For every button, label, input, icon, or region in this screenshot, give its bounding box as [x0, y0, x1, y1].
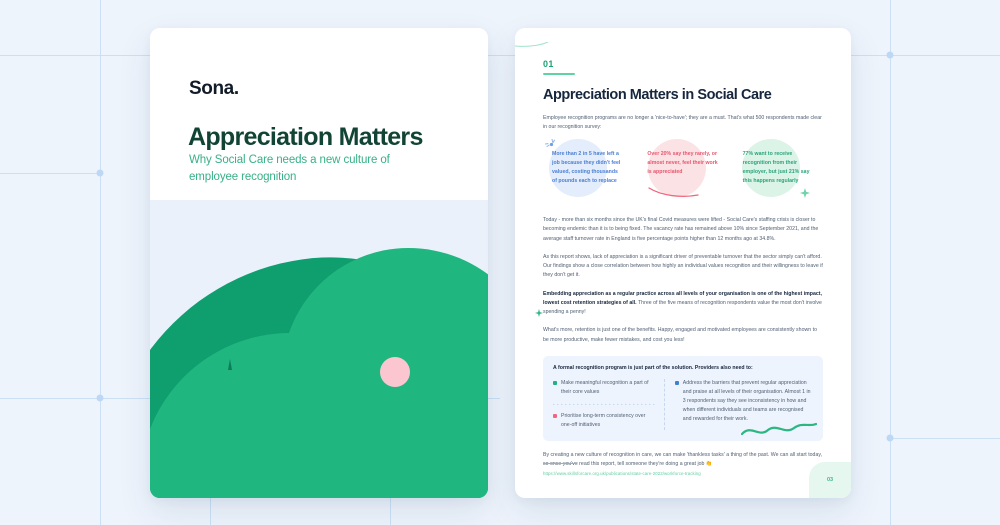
footer-source-link[interactable]: https://www.skillsforcare.org.uk/publica… [543, 471, 701, 476]
grid-line-vertical [100, 0, 101, 525]
footer-rule [543, 463, 577, 464]
body-paragraph: What's more, retention is just one of th… [543, 326, 823, 345]
sparkle-icon [800, 188, 810, 198]
sona-logo[interactable]: Sona. [189, 78, 239, 100]
grid-node-dot [885, 50, 895, 60]
cover-title: Appreciation Matters [188, 124, 423, 152]
lede-paragraph: Employee recognition programs are no lon… [543, 114, 823, 132]
cover-subtitle: Why Social Care needs a new culture of e… [189, 152, 419, 185]
bullet-icon [553, 381, 557, 385]
grid-line-horizontal [0, 173, 100, 174]
body-paragraph: As this report shows, lack of appreciati… [543, 253, 823, 281]
page-number: 03 [827, 477, 833, 483]
closing-paragraph: By creating a new culture of recognition… [543, 451, 823, 470]
stat-card: 77% want to receive recognition from the… [734, 141, 823, 207]
stat-text: Over 20% say they rarely, or almost neve… [647, 150, 718, 177]
bullet-icon [553, 414, 557, 418]
list-item: Make meaningful recognition a part of th… [553, 379, 656, 397]
report-content-page[interactable]: 01 Appreciation Matters in Social Care E… [515, 28, 851, 498]
plus-sparkle-icon [535, 309, 543, 317]
cover-header: Sona. Appreciation Matters Why Social Ca… [150, 28, 488, 200]
sparkle-icon [545, 139, 557, 150]
callout-left-column: Make meaningful recognition a part of th… [553, 379, 665, 430]
grid-line-horizontal [890, 438, 1000, 439]
body-paragraph: Today - more than six months since the U… [543, 216, 823, 244]
pink-circle-decoration [380, 357, 410, 387]
section-number-block: 01 [543, 54, 823, 75]
section-underline [543, 73, 575, 75]
page-number-badge: 03 [809, 462, 851, 498]
report-cover-page[interactable]: Sona. Appreciation Matters Why Social Ca… [150, 28, 488, 498]
statistics-row: More than 2 in 5 have left a job because… [543, 141, 823, 207]
section-number: 01 [543, 59, 554, 69]
grid-node-dot [95, 168, 105, 178]
stat-card: Over 20% say they rarely, or almost neve… [638, 141, 727, 207]
stat-text: 77% want to receive recognition from the… [743, 150, 814, 186]
cover-illustration [150, 200, 488, 498]
callout-title: A formal recognition program is just par… [553, 365, 813, 371]
list-item: Prioritise long-term consistency over on… [553, 412, 656, 430]
swoosh-icon [515, 42, 549, 47]
grid-node-dot [885, 433, 895, 443]
list-item: Address the barriers that prevent regula… [675, 379, 813, 424]
pink-underline-squiggle-icon [648, 187, 700, 199]
dotted-divider [553, 404, 656, 405]
green-wave-icon [741, 422, 817, 438]
screenshot-canvas: Sona. Appreciation Matters Why Social Ca… [0, 0, 1000, 525]
stat-text: More than 2 in 5 have left a job because… [552, 150, 623, 186]
tree-icon [228, 359, 232, 370]
list-item-label: Prioritise long-term consistency over on… [561, 412, 656, 430]
highlight-paragraph: Embedding appreciation as a regular prac… [543, 290, 823, 318]
callout-box: A formal recognition program is just par… [543, 356, 823, 441]
list-item-label: Make meaningful recognition a part of th… [561, 379, 656, 397]
clap-emoji-icon: 👏 [706, 461, 712, 467]
closing-text: By creating a new culture of recognition… [543, 452, 822, 467]
grid-node-dot [95, 393, 105, 403]
list-item-label: Address the barriers that prevent regula… [683, 379, 813, 424]
grid-line-vertical [890, 0, 891, 525]
bullet-icon [675, 381, 679, 385]
stat-card: More than 2 in 5 have left a job because… [543, 141, 632, 207]
page-title: Appreciation Matters in Social Care [543, 87, 823, 103]
